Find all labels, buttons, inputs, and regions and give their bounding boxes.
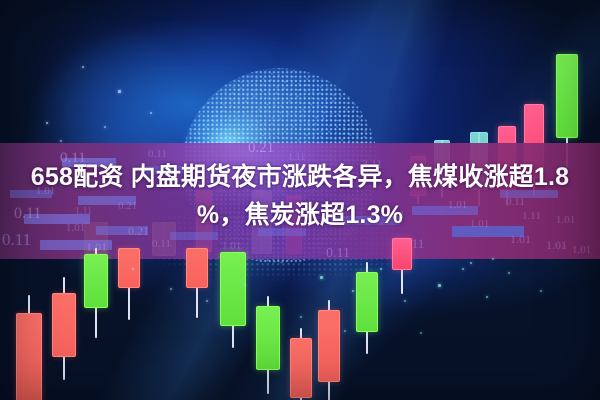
candle-body [52,293,76,357]
band-glow [0,143,600,259]
candle-10 [290,328,312,400]
candle-8 [220,252,246,348]
candle-body [84,254,108,308]
candle-5 [118,248,140,320]
candle-body [220,252,246,326]
purple-headline-band: 0.111.010.110.111.011.010.211.110.110.21… [0,143,600,259]
candle-body [556,54,578,138]
banner-image: 0.111.010.110.111.011.010.211.110.110.21… [0,0,600,400]
candle-1 [16,295,42,400]
candle-13 [392,238,412,294]
candle-body [290,338,312,398]
candle-body [318,310,340,382]
candle-body [16,313,42,400]
candle-7 [186,248,208,318]
candle-body [356,272,378,332]
candle-12 [356,262,378,354]
candle-2 [52,277,76,380]
candle-9 [256,296,280,394]
candle-body [256,306,280,370]
candle-11 [318,300,340,400]
candle-body [118,248,140,288]
candle-body [186,248,208,288]
candle-body [392,238,412,270]
candle-3 [84,248,108,338]
